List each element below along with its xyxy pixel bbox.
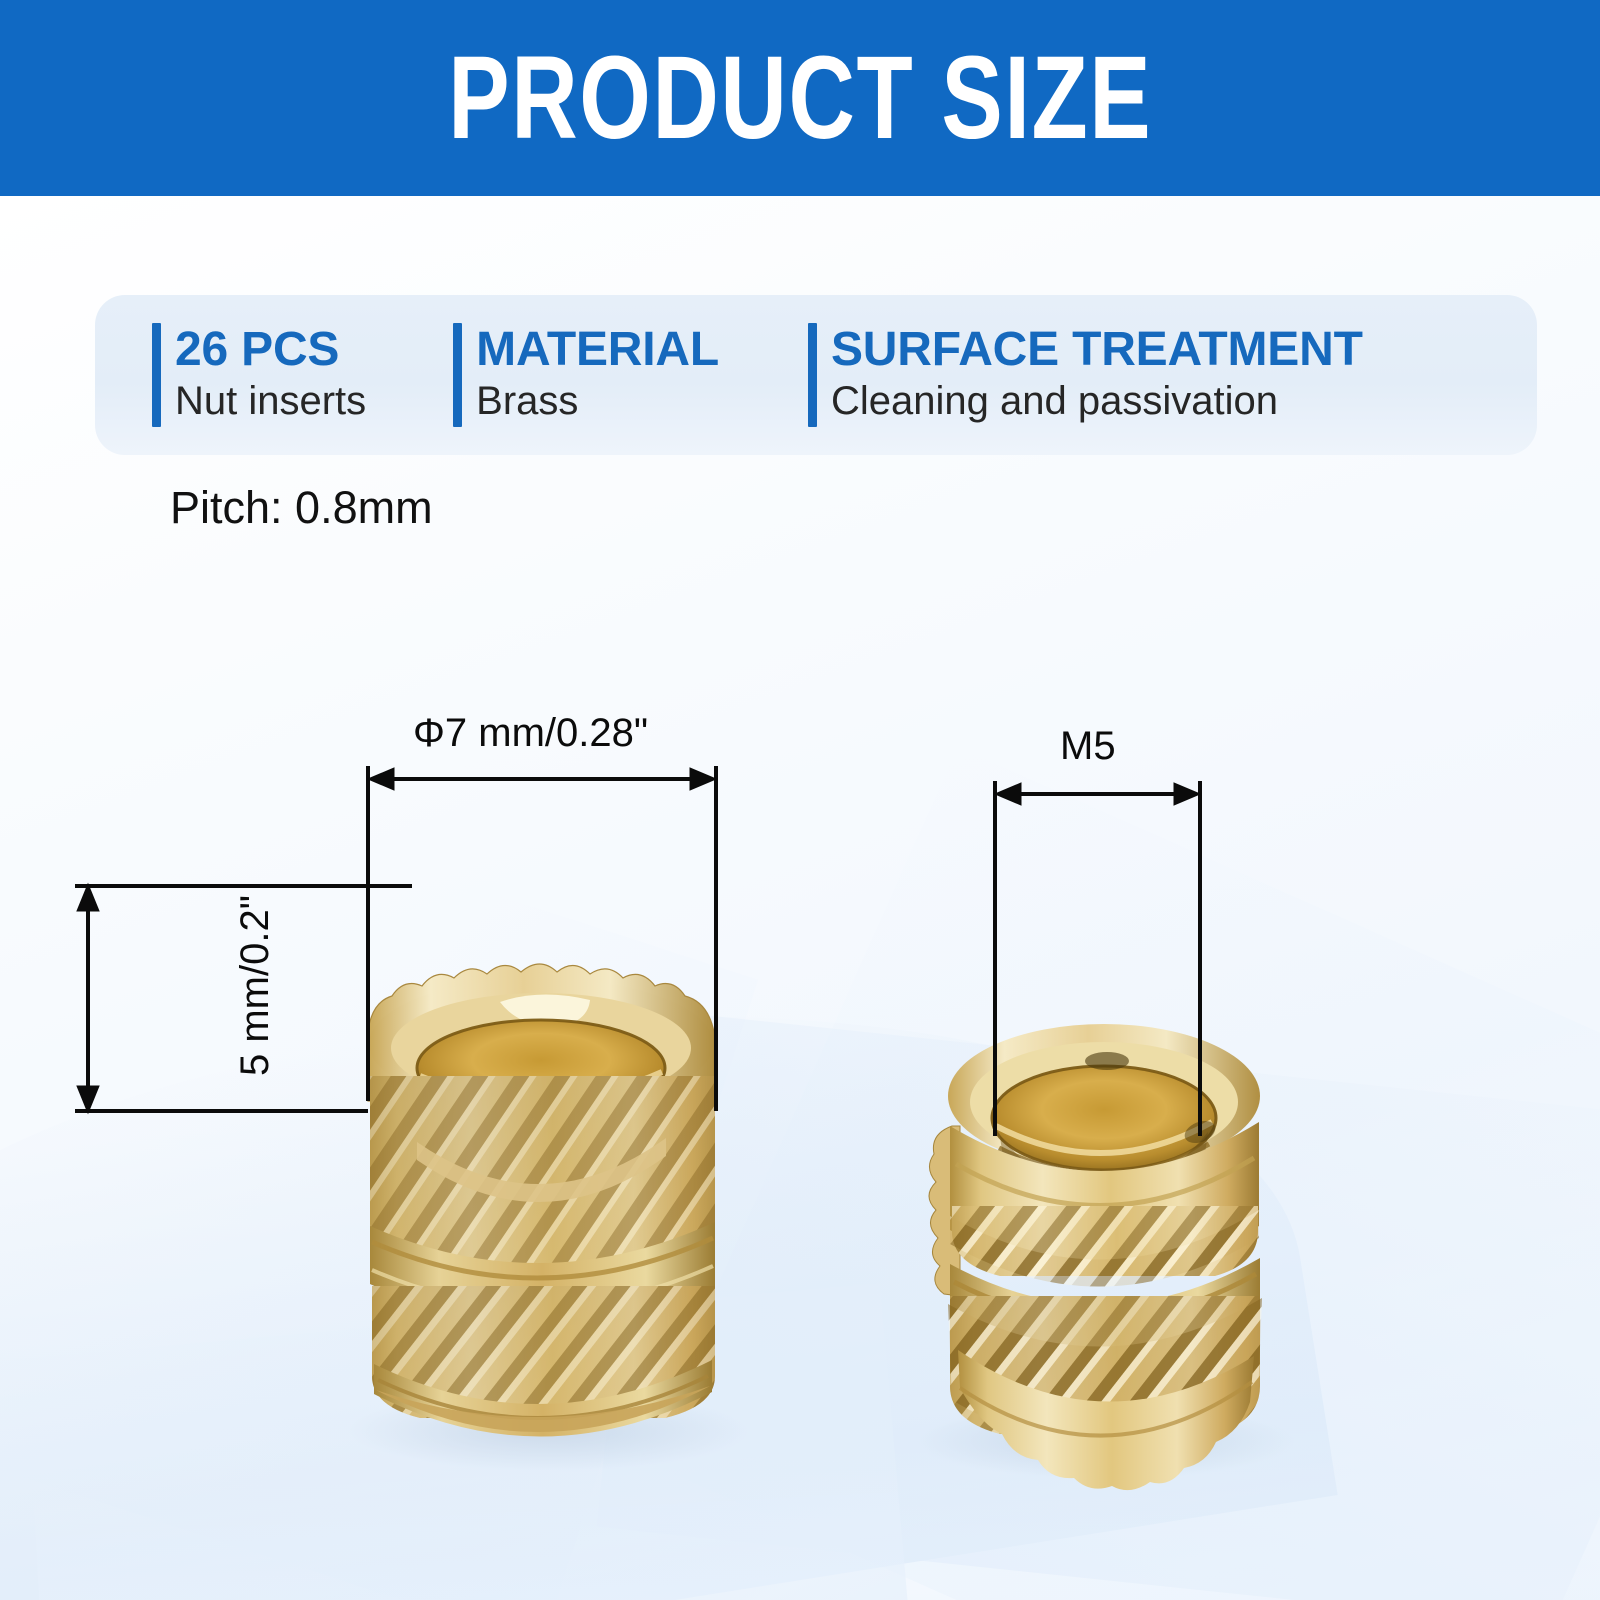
page-title: PRODUCT SIZE	[448, 39, 1152, 157]
product-illustration	[0, 196, 1600, 1600]
brass-insert-right	[915, 1024, 1295, 1490]
brass-insert-left	[348, 964, 748, 1471]
header-banner: PRODUCT SIZE	[0, 0, 1600, 196]
product-figure: Φ7 mm/0.28" M5 5 mm/0.2"	[0, 196, 1600, 1600]
product-size-infographic: PRODUCT SIZE 26 PCS Nut inserts MATERIAL…	[0, 0, 1600, 1600]
dimension-height	[75, 884, 412, 1113]
